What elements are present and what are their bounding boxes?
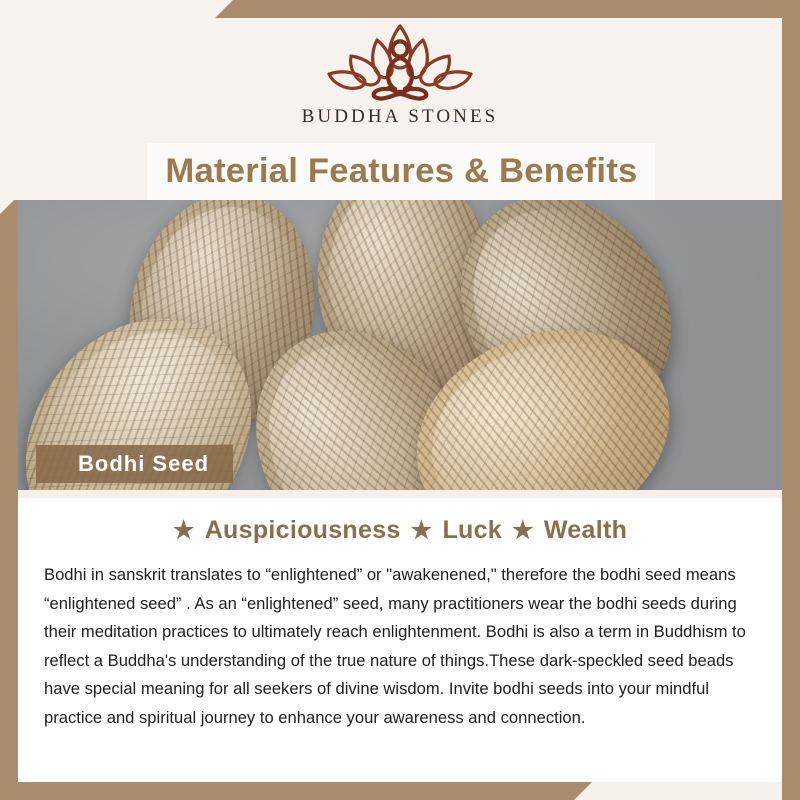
product-photo: Bodhi Seed: [18, 200, 782, 490]
frame-accent-right: [782, 0, 800, 800]
frame-accent-bottom-left: [0, 782, 592, 800]
lotus-meditation-icon: [305, 18, 495, 104]
frame-accent-top-right: [215, 0, 800, 18]
benefits-heading: ★ Auspiciousness ★ Luck ★ Wealth: [18, 516, 782, 545]
star-icon: ★: [173, 519, 195, 543]
seed-label-badge: Bodhi Seed: [36, 445, 233, 483]
brand-name: BUDDHA STONES: [302, 106, 499, 128]
benefit-luck: Luck: [442, 516, 502, 545]
page-title: Material Features & Benefits: [165, 152, 637, 191]
benefit-wealth: Wealth: [544, 516, 627, 545]
seed-label-text: Bodhi Seed: [78, 451, 209, 477]
description-panel: ★ Auspiciousness ★ Luck ★ Wealth Bodhi i…: [18, 490, 782, 782]
product-info-poster: BUDDHA STONES Material Features & Benefi…: [0, 0, 800, 800]
benefit-auspiciousness: Auspiciousness: [205, 516, 401, 545]
star-icon: ★: [512, 519, 534, 543]
frame-accent-left: [0, 200, 18, 800]
brand-logo: BUDDHA STONES: [0, 18, 800, 138]
title-banner: Material Features & Benefits: [147, 143, 655, 200]
star-icon: ★: [411, 519, 433, 543]
panel-top-divider: [18, 490, 782, 498]
description-text: Bodhi in sanskrit translates to “enlight…: [44, 561, 758, 732]
